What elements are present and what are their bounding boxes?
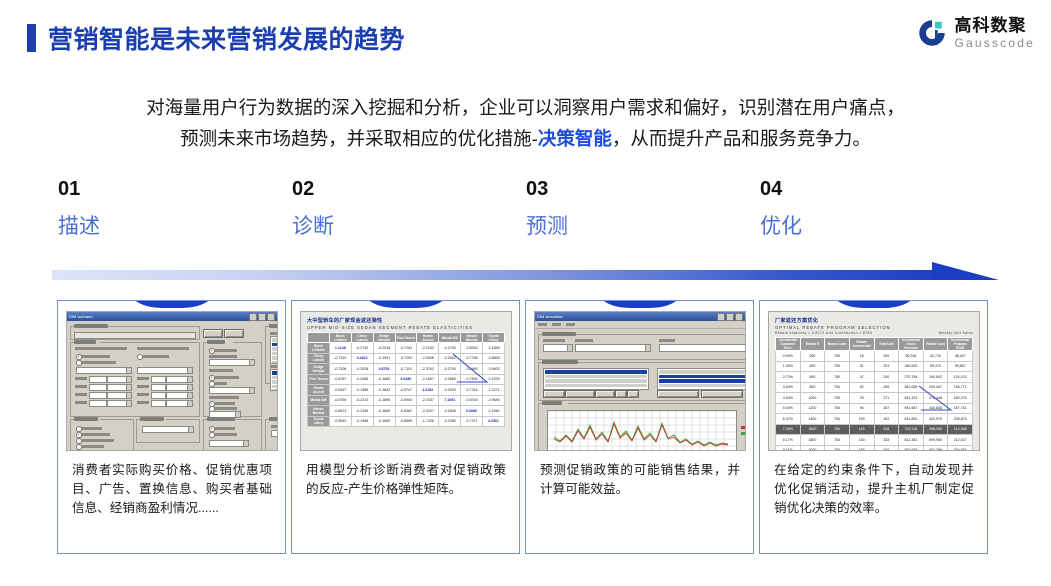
optimization-cell-0-3: 16 (849, 351, 874, 362)
card-02-diagnose[interactable]: 大中型轿车的厂家现金返还弹性 UPPER MID-SIZE SEDAN SEGM… (291, 300, 520, 554)
dim-simulation-body (535, 329, 745, 451)
move-down-button[interactable] (627, 390, 639, 398)
optimization-cell-8-4: 333 (874, 435, 899, 446)
matrix-cell-7-4: -1.7436 (417, 416, 439, 427)
step-02: 02 诊断 (292, 178, 492, 239)
card-04-tab (831, 300, 917, 308)
optimization-cell-1-4: 224 (874, 361, 899, 372)
optimization-cell-3-1: 800 (800, 382, 825, 393)
term-60-left-combo[interactable] (107, 400, 132, 407)
intro-paragraph: 对海量用户行为数据的深入挖掘和分析，企业可以洞察用户需求和偏好，识别潜在用户痛点… (48, 92, 1003, 154)
optimization-cell-2-3: 47 (849, 372, 874, 383)
group-label-bonus-cash (140, 417, 164, 421)
matrix-cell-0-1: -0.2742 (351, 343, 373, 354)
label-24-mo-right (137, 377, 149, 380)
optimization-cell-8-2: 750 (825, 435, 850, 446)
optimization-cell-2-1: 600 (800, 372, 825, 383)
step-01-number: 01 (58, 178, 258, 200)
optimization-cell-7-0: 7.28% (776, 424, 801, 435)
rate-subsidy-combo[interactable] (209, 387, 255, 394)
card-04-optimize[interactable]: 厂家返还方案优化 OPTIMAL REBATE PROGRAM SELECTIO… (759, 300, 988, 554)
table-row: Buick LeSabre1.1148-0.2742-0.2018-0.7254… (308, 343, 505, 354)
matrix-cell-4-7: -2.2271 (483, 385, 505, 396)
group-msrp-change (203, 419, 262, 451)
optimization-cell-8-3: 140 (849, 435, 874, 446)
matrix-cell-3-6: -0.7500 (461, 374, 483, 385)
matrix-row-header-4: Honda Accord (308, 385, 330, 396)
models-list[interactable] (270, 336, 278, 364)
radio-not-offered[interactable] (137, 354, 143, 360)
optimization-col-header-0: Incremental Customer Price (776, 338, 801, 351)
group-simulation-options (538, 362, 746, 401)
matrix-cell-1-4: -2.2606 (417, 353, 439, 364)
label-residual-subsidy (209, 396, 239, 399)
matrix-cell-6-7: -2.1982 (483, 406, 505, 417)
matrix-cell-1-1: 3.2822 (351, 353, 373, 364)
group-results (538, 403, 746, 451)
group-bonus-cash (136, 419, 200, 443)
card-04-screenshot: 厂家返还方案优化 OPTIMAL REBATE PROGRAM SELECTIO… (768, 311, 980, 451)
matrix-cell-2-4: -2.3762 (417, 364, 439, 375)
save-button[interactable] (203, 329, 223, 338)
optimization-table-panel: 厂家返还方案优化 OPTIMAL REBATE PROGRAM SELECTIO… (769, 312, 979, 450)
card-03-caption: 预测促销政策的可能销售结果，并计算可能效益。 (540, 461, 740, 499)
matrix-row-header-0: Buick LeSabre (308, 343, 330, 354)
group-label-dealer-cash (74, 417, 98, 421)
optimization-cell-7-6: 498,295 (923, 424, 948, 435)
dealer-cash-combo[interactable] (76, 450, 108, 451)
label-model-year (543, 339, 565, 342)
matrix-cell-6-3: -0.6362 (395, 406, 417, 417)
table-row: Dodge Intrepid-0.7206-0.20280.8752-0.711… (308, 364, 505, 375)
matrix-cell-7-5: -0.2380 (439, 416, 461, 427)
step-04: 04 优化 (760, 178, 960, 239)
matrix-cell-0-7: -2.1896 (483, 343, 505, 354)
matrix-cell-6-1: -0.2169 (351, 406, 373, 417)
group-program-description (70, 326, 200, 340)
label-all-cash-inc-lease (82, 439, 114, 442)
optimization-cell-0-2: 750 (825, 351, 850, 362)
step-02-number: 02 (292, 178, 492, 200)
optimization-cell-4-6: 276,448 (923, 393, 948, 404)
group-rebase-incentives (265, 419, 278, 451)
brand-name-en: Gausscode (954, 37, 1035, 49)
matrix-cell-2-6: -0.6490 (461, 364, 483, 375)
matrix-cell-3-1: -0.2586 (351, 374, 373, 385)
group-dealer-cash (70, 419, 134, 451)
card-01-describe[interactable]: DIM scenario (57, 300, 286, 554)
optimization-cell-4-0: 4.54% (776, 393, 801, 404)
matrix-cell-2-5: -0.2794 (439, 364, 461, 375)
optimization-cell-9-3: 156 (849, 445, 874, 451)
legend-swatch-actual (741, 432, 746, 435)
card-row: DIM scenario (0, 296, 1051, 558)
optimization-col-header-3: Rebate Incremental (849, 338, 874, 351)
matrix-cell-3-4: -2.1697 (417, 374, 439, 385)
label-msrp-percent (215, 433, 237, 436)
gausscode-logo-mark-icon (917, 18, 947, 48)
term-48-left-combo[interactable] (107, 392, 132, 399)
radio-cash-only[interactable] (76, 426, 82, 432)
optimization-cell-9-2: 750 (825, 445, 850, 451)
menu-file[interactable] (538, 323, 547, 326)
group-leases (203, 342, 262, 417)
step-01-label: 描述 (58, 215, 258, 239)
table-row: Ford Taurus-0.6787-0.2586-0.18606.9480-2… (308, 374, 505, 385)
optimization-cell-6-7: 208,873 (948, 414, 973, 425)
add-button[interactable] (543, 390, 565, 398)
remove-button[interactable] (565, 390, 595, 398)
group-label-purchases (74, 340, 96, 344)
optimization-cell-4-5: 451,323 (899, 393, 924, 404)
card-02-caption: 用模型分析诊断消费者对促销政策的反应-产生价格弹性矩阵。 (306, 461, 506, 499)
optimization-col-header-2: Bonus Cash (825, 338, 850, 351)
elasticity-matrix-panel: 大中型轿车的厂家现金返还弹性 UPPER MID-SIZE SEDAN SEGM… (301, 312, 511, 450)
optimization-cell-2-4: 240 (874, 372, 899, 383)
brand-logo: 高科数聚 Gausscode (917, 17, 1035, 49)
intro-highlight: 决策智能 (538, 128, 612, 149)
matrix-col-header-4: Honda Accord (417, 333, 439, 343)
term-36-left-combo[interactable] (107, 384, 132, 391)
radio-msrp-amount[interactable] (209, 426, 215, 432)
term-24-right-combo[interactable] (166, 376, 193, 383)
card-03-tab (597, 300, 683, 308)
measures-select-all-button[interactable] (657, 390, 699, 398)
optimization-cell-7-7: 212,368 (948, 424, 973, 435)
optimization-cell-5-0: 5.44% (776, 403, 801, 414)
label-regions (270, 365, 278, 368)
optimization-cell-1-7: 90,867 (948, 361, 973, 372)
matrix-cell-2-1: -0.2028 (351, 364, 373, 375)
optimization-meta-right: Weekly Unit Sales (939, 331, 973, 335)
label-lease-only (82, 445, 104, 448)
matrix-cell-1-6: -0.7766 (461, 353, 483, 364)
radio-rebate-cash-inc[interactable] (76, 432, 82, 438)
optimization-cell-4-3: 78 (849, 393, 874, 404)
matrix-cell-6-0: -0.6673 (329, 406, 351, 417)
table-row: 2.73%60075047240270,784140,842124,102 (776, 372, 973, 383)
group-label-base-incentives (269, 324, 278, 328)
intro-line-2-before: 预测未来市场趋势，并采取相应的优化措施- (180, 128, 538, 149)
matrix-col-header-5: Mazda 626 (439, 333, 461, 343)
optimization-cell-3-4: 255 (874, 382, 899, 393)
optimization-cell-9-1: 2000 (800, 445, 825, 451)
optimization-cell-3-6: 204,287 (923, 382, 948, 393)
label-not-offered (143, 355, 169, 358)
optimization-cell-5-7: 187,741 (948, 403, 973, 414)
matrix-cell-6-2: -0.1869 (373, 406, 395, 417)
matrix-cell-2-7: -3.0602 (483, 364, 505, 375)
term-36-right-input[interactable] (151, 384, 166, 391)
matrix-corner-cell (308, 333, 330, 343)
term-24-right-input[interactable] (151, 376, 166, 383)
optimization-cell-4-7: 180,278 (948, 393, 973, 404)
term-36-right-combo[interactable] (166, 384, 193, 391)
radio-money-factor[interactable] (209, 375, 215, 381)
optimization-cell-3-0: 3.64% (776, 382, 801, 393)
optimization-cell-4-4: 271 (874, 393, 899, 404)
step-03-number: 03 (526, 178, 726, 200)
progress-arrow-icon (52, 262, 999, 288)
term-60-right-input[interactable] (151, 400, 166, 407)
matrix-row-header-6: Nissan Maxima (308, 406, 330, 417)
group-base-incentives (265, 326, 278, 384)
matrix-cell-2-0: -0.7206 (329, 364, 351, 375)
optimization-cell-3-3: 62 (849, 382, 874, 393)
elasticity-matrix-subtitle: UPPER MID-SIZE SEDAN SEGMENT REBATE ELAS… (307, 325, 505, 330)
optimization-cell-6-5: 631,852 (899, 414, 924, 425)
card-04-caption: 在给定的约束条件下，自动发现并优化促销活动，提升主机厂制定促销优化决策的效率。 (774, 461, 974, 518)
card-02-screenshot: 大中型轿车的厂家现金返还弹性 UPPER MID-SIZE SEDAN SEGM… (300, 311, 512, 451)
optimization-cell-0-1: 200 (800, 351, 825, 362)
optimization-cell-6-3: 109 (849, 414, 874, 425)
matrix-cell-3-3: 6.9480 (395, 374, 417, 385)
optimization-cell-5-5: 541,587 (899, 403, 924, 414)
dim-scenario-titlebar: DIM scenario (67, 312, 277, 321)
optimization-cell-9-4: 349 (874, 445, 899, 451)
term-36-left-input[interactable] (89, 384, 107, 391)
page-title-group: 营销智能是未来营销发展的趋势 (27, 20, 405, 56)
label-36-mo-right (137, 385, 149, 388)
dim-simulation-window: DIM simulation (535, 312, 745, 450)
matrix-row-header-5: Mazda 626 (308, 395, 330, 406)
matrix-row-header-2: Dodge Intrepid (308, 364, 330, 375)
rebase-model-combo[interactable] (271, 430, 278, 437)
dim-scenario-window: DIM scenario (67, 312, 277, 450)
matrix-cell-7-7: 4.2561 (483, 416, 505, 427)
term-48-right-combo[interactable] (166, 392, 193, 399)
optimization-cell-7-2: 750 (825, 424, 850, 435)
term-60-left-input[interactable] (89, 400, 107, 407)
msrp-change-combo[interactable] (209, 440, 249, 447)
close-button[interactable] (224, 329, 244, 338)
optimization-cell-8-6: 599,950 (923, 435, 948, 446)
label-rebate-cash-inc (82, 433, 110, 436)
step-01: 01 描述 (58, 178, 258, 239)
label-models (270, 332, 278, 335)
radio-lease-only[interactable] (76, 444, 82, 450)
measures-list[interactable] (657, 368, 746, 390)
radio-no-subsidy[interactable] (209, 348, 215, 354)
step-03-label: 预测 (526, 215, 726, 239)
optimization-meta-left: Rebate elasticity = 0.8172 Unit Contribu… (775, 331, 872, 335)
optimization-cell-1-0: 1.00% (776, 361, 801, 372)
group-label-simulations-data (542, 332, 576, 336)
card-02-tab (363, 300, 449, 308)
menu-simulations[interactable] (552, 323, 561, 326)
matrix-cell-0-0: 1.1148 (329, 343, 351, 354)
matrix-cell-5-2: -0.1895 (373, 395, 395, 406)
dim-simulation-title: DIM simulation (537, 314, 563, 319)
optimization-col-header-5: Incremental Gross Revenue (899, 338, 924, 351)
rebate-amount-combo[interactable] (76, 367, 132, 374)
table-row: Toyota Camry-0.5640-0.1988-0.1660-0.6589… (308, 416, 505, 427)
matrix-cell-6-6: 0.6080 (461, 406, 483, 417)
radio-apr[interactable] (209, 381, 215, 387)
optimization-cell-5-4: 287 (874, 403, 899, 414)
group-purchases (70, 342, 200, 417)
brand-logo-text: 高科数聚 Gausscode (954, 17, 1035, 49)
matrix-cell-1-2: -0.1991 (373, 353, 395, 364)
optimization-cell-2-7: 124,102 (948, 372, 973, 383)
optimization-cell-4-1: 1000 (800, 393, 825, 404)
matrix-cell-5-0: -0.6766 (329, 395, 351, 406)
page-title: 营销智能是未来营销发展的趋势 (48, 20, 405, 56)
matrix-row-header-7: Toyota Camry (308, 416, 330, 427)
optimization-cell-5-2: 750 (825, 403, 850, 414)
window-controls[interactable] (717, 313, 743, 321)
label-24-mo-left (75, 377, 87, 380)
optimization-cell-7-5: 722,116 (899, 424, 924, 435)
label-region (659, 339, 675, 342)
menu-tools[interactable] (566, 323, 575, 326)
regions-list[interactable] (270, 369, 278, 391)
matrix-cell-0-5: -0.2794 (439, 343, 461, 354)
label-rebate-apr-subsidy (75, 347, 127, 350)
optimization-cell-2-5: 270,784 (899, 372, 924, 383)
title-accent-bar (27, 24, 36, 52)
matrix-cell-3-0: -0.6787 (329, 374, 351, 385)
optimization-table-title: 厂家返还方案优化 (775, 317, 973, 324)
progress-arrow (52, 262, 999, 288)
matrix-cell-3-7: -2.1925 (483, 374, 505, 385)
intro-line-1: 对海量用户行为数据的深入挖掘和分析，企业可以洞察用户需求和偏好，识别潜在用户痛点… (146, 97, 905, 118)
optimization-cell-9-5: 902,645 (899, 445, 924, 451)
optimization-cell-6-1: 1400 (800, 414, 825, 425)
optimization-cell-1-5: 180,929 (899, 361, 924, 372)
bonus-cash-combo[interactable] (142, 426, 194, 433)
matrix-cell-4-3: -0.5747 (395, 385, 417, 396)
matrix-cell-6-5: -0.2838 (439, 406, 461, 417)
matrix-col-header-0: Buick LeSabre (329, 333, 351, 343)
matrix-cell-5-1: -0.2210 (351, 395, 373, 406)
matrix-row-header-1: Chevy Lumina (308, 353, 330, 364)
table-header-row: Incremental Customer PriceRebate $Bonus … (776, 338, 973, 351)
label-60-mo-left (75, 401, 87, 404)
step-02-label: 诊断 (292, 215, 492, 239)
group-simulations-data (538, 334, 746, 360)
optimization-cell-0-7: 48,447 (948, 351, 973, 362)
matrix-cell-7-0: -0.5640 (329, 416, 351, 427)
lease-cash-combo[interactable] (209, 359, 255, 366)
table-row: 1.00%40075031224180,92989,47090,867 (776, 361, 973, 372)
matrix-cell-7-3: -0.6589 (395, 416, 417, 427)
table-row: 9.11%2000750156349902,645667,798204,881 (776, 445, 973, 451)
move-up-button[interactable] (615, 390, 627, 398)
term-24-left-combo[interactable] (107, 376, 132, 383)
radio-msrp-percent[interactable] (209, 432, 215, 438)
table-row: 6.37%1400750109302631,852422,975208,873 (776, 414, 973, 425)
optimization-cell-9-7: 204,881 (948, 445, 973, 451)
optimization-col-header-1: Rebate $ (800, 338, 825, 351)
optimization-table-subtitle: OPTIMAL REBATE PROGRAM SELECTION (775, 325, 973, 330)
optimization-table: Incremental Customer PriceRebate $Bonus … (775, 337, 973, 451)
optimization-cell-1-6: 89,470 (923, 361, 948, 372)
optimization-cell-7-4: 318 (874, 424, 899, 435)
matrix-cell-1-3: -0.7293 (395, 353, 417, 364)
label-rate-subsidy (209, 369, 233, 372)
optimization-cell-2-2: 750 (825, 372, 850, 383)
optimization-cell-7-3: 125 (849, 424, 874, 435)
matrix-cell-0-4: -2.2192 (417, 343, 439, 354)
optimization-cell-3-7: 156,771 (948, 382, 973, 393)
table-row: Nissan Maxima-0.6673-0.2169-0.1869-0.636… (308, 406, 505, 417)
edit-button[interactable] (595, 390, 615, 398)
term-48-left-input[interactable] (89, 392, 107, 399)
optimization-cell-5-6: 340,846 (923, 403, 948, 414)
term-48-right-input[interactable] (151, 392, 166, 399)
table-row: 8.17%1800750140333812,381599,950212,427 (776, 435, 973, 446)
optimization-col-header-6: Rebate Cost (923, 338, 948, 351)
radio-no-rebate[interactable] (76, 354, 82, 360)
matrix-cell-4-2: -0.1642 (373, 385, 395, 396)
matrix-cell-2-3: -0.7110 (395, 364, 417, 375)
group-label-rebase-incentives (269, 417, 278, 421)
elasticity-matrix-table: Buick LeSabreChevy LuminaDodge IntrepidF… (307, 332, 505, 427)
simulation-chart (547, 410, 737, 451)
radio-all-cash-inc-lease[interactable] (76, 438, 82, 444)
matrix-col-header-3: Ford Taurus (395, 333, 417, 343)
label-money-factor (215, 376, 239, 379)
label-msrp-amount (215, 427, 235, 430)
optimization-cell-6-4: 302 (874, 414, 899, 425)
optimal-row: 7.28%1600750125318722,116498,295212,368 (776, 424, 973, 435)
matrix-cell-3-5: -0.2669 (439, 374, 461, 385)
measures-clear-all-button[interactable] (701, 390, 743, 398)
window-controls[interactable] (249, 313, 275, 321)
region-combo[interactable] (659, 344, 746, 352)
card-03-screenshot: DIM simulation (534, 311, 746, 451)
label-no-rebate (82, 355, 110, 358)
group-label-program-description (74, 324, 108, 328)
segment-combo[interactable] (575, 344, 651, 352)
optimization-cell-6-0: 6.37% (776, 414, 801, 425)
term-60-right-combo[interactable] (166, 400, 193, 407)
scenarios-list[interactable] (543, 368, 649, 390)
table-row: Honda Accord-0.5497-0.1986-0.1642-0.5747… (308, 385, 505, 396)
optimization-cell-3-5: 361,058 (899, 382, 924, 393)
table-row: 3.64%80075062255361,058204,287156,771 (776, 382, 973, 393)
label-segment (575, 339, 593, 342)
matrix-cell-5-6: -0.8704 (461, 395, 483, 406)
card-03-predict[interactable]: DIM simulation (525, 300, 754, 554)
intro-line-2-after: ，从而提升产品和服务竞争力。 (612, 128, 871, 149)
optimization-cell-4-2: 750 (825, 393, 850, 404)
apr-combo[interactable] (137, 367, 193, 374)
optimization-cell-0-5: 90,246 (899, 351, 924, 362)
model-year-combo[interactable] (543, 344, 573, 352)
brand-name-cn: 高科数聚 (954, 17, 1035, 34)
group-label-results (542, 401, 562, 405)
matrix-cell-4-6: -0.7314 (461, 385, 483, 396)
matrix-cell-0-3: -0.7254 (395, 343, 417, 354)
matrix-cell-4-1: -0.1986 (351, 385, 373, 396)
optimization-cell-2-6: 140,842 (923, 372, 948, 383)
table-row: 4.54%100075078271451,323276,448180,278 (776, 393, 973, 404)
matrix-cell-1-5: -0.2692 (439, 353, 461, 364)
matrix-cell-5-7: -2.9640 (483, 395, 505, 406)
optimization-cell-5-3: 94 (849, 403, 874, 414)
label-60-mo-right (137, 401, 149, 404)
simulation-menubar[interactable] (535, 321, 745, 329)
radio-no-apr-subsidy[interactable] (76, 360, 82, 366)
group-label-leases (207, 340, 225, 344)
label-apr (215, 382, 227, 385)
program-description-input[interactable] (74, 332, 196, 339)
matrix-cell-6-4: -2.3207 (417, 406, 439, 417)
matrix-cell-4-5: -0.2293 (439, 385, 461, 396)
term-24-left-input[interactable] (89, 376, 107, 383)
